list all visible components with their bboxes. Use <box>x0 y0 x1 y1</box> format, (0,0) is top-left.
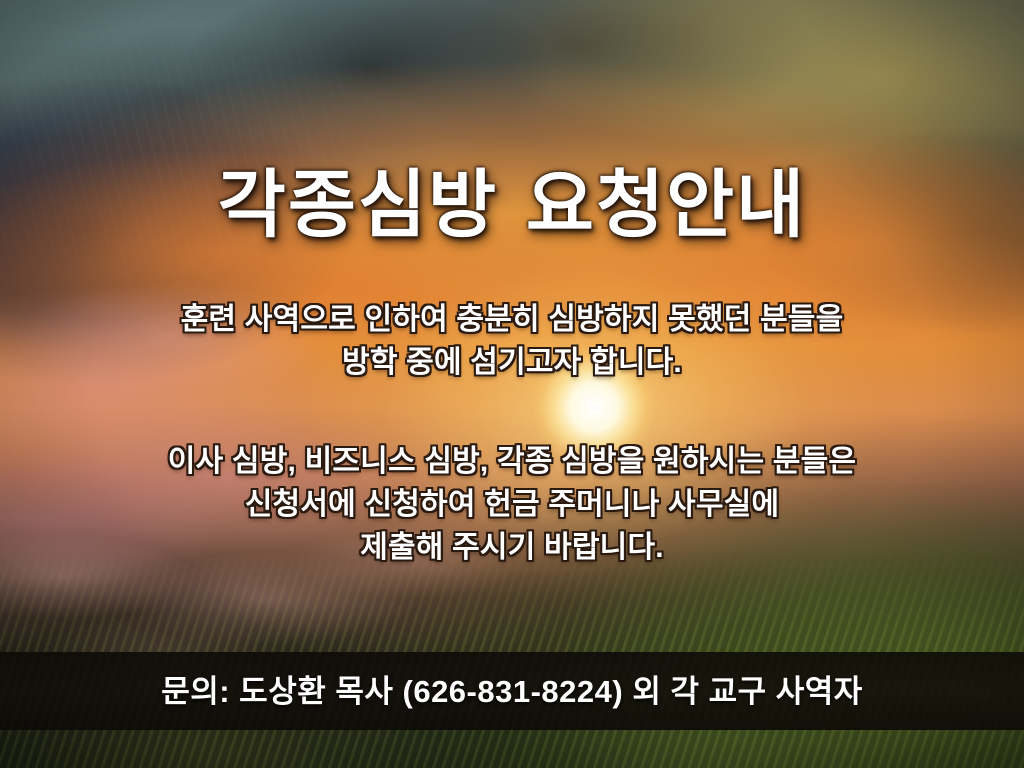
poster-title: 각종심방 요청안내 <box>0 168 1024 243</box>
paragraph-instructions-line-1: 이사 심방, 비즈니스 심방, 각종 심방을 원하시는 분들은 <box>0 440 1024 483</box>
poster-content: 각종심방 요청안내 훈련 사역으로 인하여 충분히 심방하지 못했던 분들을 방… <box>0 0 1024 768</box>
paragraph-intro: 훈련 사역으로 인하여 충분히 심방하지 못했던 분들을 방학 중에 섬기고자 … <box>0 298 1024 384</box>
paragraph-intro-line-2: 방학 중에 섬기고자 합니다. <box>0 341 1024 384</box>
paragraph-instructions-line-2: 신청서에 신청하여 헌금 주머니나 사무실에 <box>0 483 1024 526</box>
paragraph-intro-line-1: 훈련 사역으로 인하여 충분히 심방하지 못했던 분들을 <box>0 298 1024 341</box>
footer-bar: 문의: 도상환 목사 (626-831-8224) 외 각 교구 사역자 <box>0 652 1024 730</box>
footer-contact-text: 문의: 도상환 목사 (626-831-8224) 외 각 교구 사역자 <box>161 676 863 707</box>
paragraph-instructions-line-3: 제출해 주시기 바랍니다. <box>0 526 1024 569</box>
poster-slide: 각종심방 요청안내 훈련 사역으로 인하여 충분히 심방하지 못했던 분들을 방… <box>0 0 1024 768</box>
paragraph-instructions: 이사 심방, 비즈니스 심방, 각종 심방을 원하시는 분들은 신청서에 신청하… <box>0 440 1024 569</box>
